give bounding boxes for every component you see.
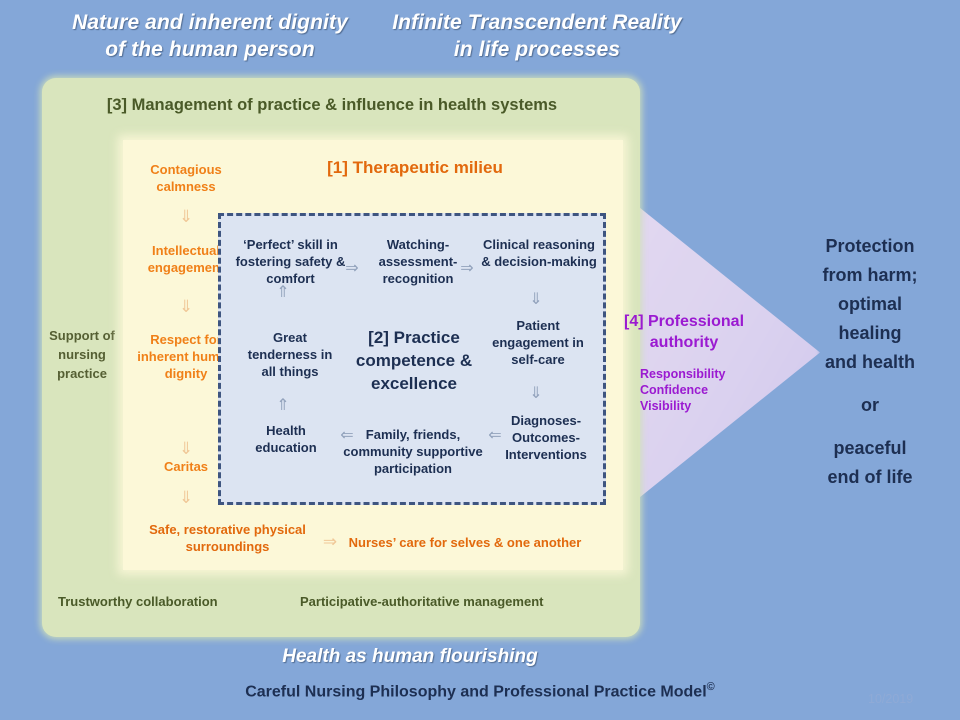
datestamp: 10/2019: [868, 692, 913, 706]
outcome-spacer-2: [790, 420, 950, 434]
outcome-text: Protection from harm; optimal healing an…: [790, 232, 950, 492]
participative-management-label: Participative-authoritative management: [300, 594, 543, 609]
up-arrow-icon-1: ⇑: [272, 398, 294, 414]
cell-clinical-reasoning: Clinical reasoning & decision-making: [478, 236, 600, 270]
outcome-line2: from harm;: [790, 261, 950, 290]
authority-item-visibility: Visibility: [640, 398, 770, 414]
banner-right-line2: in life processes: [372, 36, 702, 63]
cell-patient-engagement: Patient engagement in self-care: [480, 317, 596, 368]
outcome-line6: peaceful: [790, 434, 950, 463]
cell-family-friends: Family, friends, community supportive pa…: [338, 426, 488, 477]
down-arrow-icon-2: ⇓: [525, 386, 547, 402]
banner-left: Nature and inherent dignity of the human…: [50, 9, 370, 63]
management-layer-label: [3] Management of practice & influence i…: [42, 96, 622, 115]
outcome-line3: optimal: [790, 290, 950, 319]
model-title: Careful Nursing Philosophy and Professio…: [150, 681, 810, 701]
left-arrow-icon-2: ⇐: [336, 428, 358, 444]
authority-item-confidence: Confidence: [640, 382, 770, 398]
cell-perfect-skill: ‘Perfect’ skill in fostering safety & co…: [228, 236, 353, 287]
outcome-line4: healing: [790, 319, 950, 348]
chain-item-contagious-calmness: Contagious calmness: [130, 161, 242, 195]
support-of-nursing-practice-label: Support of nursing practice: [48, 326, 116, 383]
authority-item-responsibility: Responsibility: [640, 366, 770, 382]
practice-competence-label: [2] Practice competence & excellence: [340, 326, 488, 395]
cell-great-tenderness: Great tenderness in all things: [240, 329, 340, 380]
safe-restorative-surroundings-label: Safe, restorative physical surroundings: [140, 521, 315, 555]
outcome-line1: Protection: [790, 232, 950, 261]
right-arrow-icon-1: ⇒: [341, 261, 363, 277]
down-arrow-icon-1: ⇓: [525, 292, 547, 308]
diagram-canvas: Nature and inherent dignity of the human…: [0, 0, 960, 720]
professional-authority-line1: [4] Professional: [604, 311, 764, 332]
professional-authority-line2: authority: [604, 332, 764, 353]
nurses-care-label: Nurses’ care for selves & one another: [340, 534, 590, 551]
outcome-line7: end of life: [790, 463, 950, 492]
professional-authority-title: [4] Professional authority: [604, 311, 764, 353]
left-arrow-icon-1: ⇐: [484, 428, 506, 444]
health-flourishing-caption: Health as human flourishing: [200, 646, 620, 668]
banner-left-line1: Nature and inherent dignity: [50, 9, 370, 36]
outcome-connector: or: [790, 391, 950, 420]
cell-diagnoses-outcomes: Diagnoses-Outcomes-Interventions: [490, 412, 602, 463]
banner-right: Infinite Transcendent Reality in life pr…: [372, 9, 702, 63]
outcome-spacer: [790, 377, 950, 391]
outcome-line5: and health: [790, 348, 950, 377]
right-arrow-icon-2: ⇒: [456, 261, 478, 277]
up-arrow-icon-2: ⇑: [272, 285, 294, 301]
trustworthy-collaboration-label: Trustworthy collaboration: [58, 594, 218, 609]
therapeutic-milieu-label: [1] Therapeutic milieu: [250, 158, 580, 178]
model-title-text: Careful Nursing Philosophy and Professio…: [245, 683, 706, 700]
right-arrow-icon-bottom: ⇒: [318, 532, 342, 552]
cell-health-education: Health education: [243, 422, 329, 456]
copyright-mark: ©: [707, 681, 715, 693]
professional-authority-items: Responsibility Confidence Visibility: [640, 366, 770, 414]
banner-left-line2: of the human person: [50, 36, 370, 63]
banner-right-line1: Infinite Transcendent Reality: [372, 9, 702, 36]
